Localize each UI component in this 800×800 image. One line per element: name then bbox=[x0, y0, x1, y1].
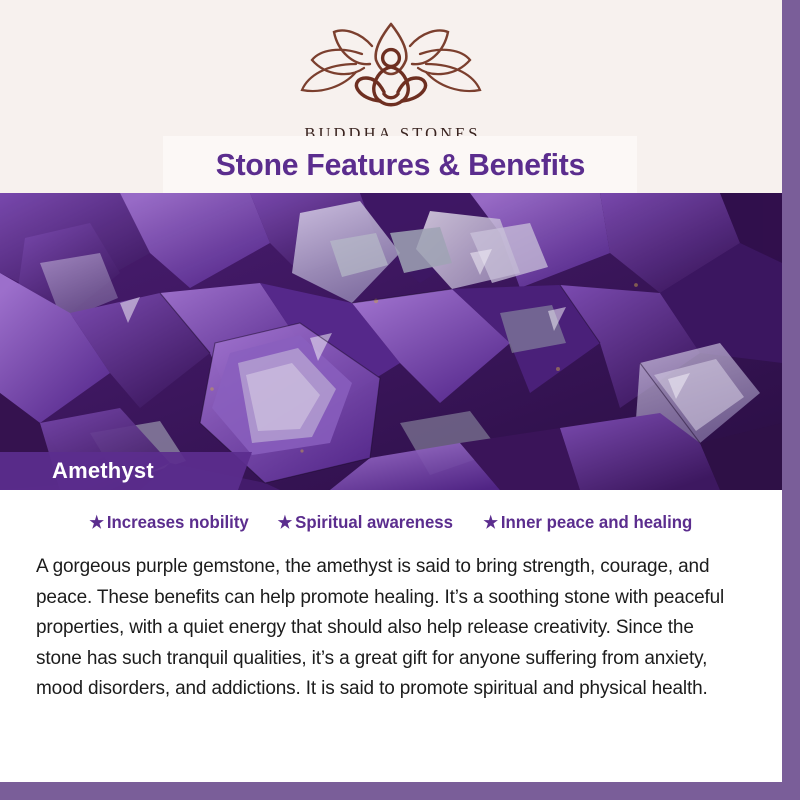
stone-description: A gorgeous purple gemstone, the amethyst… bbox=[36, 552, 741, 705]
feature-label: Spiritual awareness bbox=[295, 512, 453, 533]
infographic-page: BUDDHA STONES Stone Features & Benefits bbox=[0, 0, 800, 800]
star-icon: ★ bbox=[483, 514, 498, 531]
feature-list: ★ Increases nobility ★ Spiritual awarene… bbox=[0, 512, 782, 533]
lotus-meditation-figure-icon bbox=[296, 20, 486, 120]
content-card: BUDDHA STONES Stone Features & Benefits bbox=[0, 0, 782, 782]
feature-label: Inner peace and healing bbox=[500, 512, 691, 533]
title-banner: Stone Features & Benefits bbox=[163, 136, 637, 193]
brand-logo: BUDDHA STONES bbox=[0, 20, 782, 144]
amethyst-crystal-cluster-photo bbox=[0, 193, 782, 490]
stone-name-ribbon: Amethyst bbox=[0, 452, 252, 490]
feature-item-2: ★ Inner peace and healing bbox=[483, 512, 692, 533]
feature-label: Increases nobility bbox=[107, 512, 249, 533]
page-title: Stone Features & Benefits bbox=[215, 147, 584, 183]
stone-info-panel: ★ Increases nobility ★ Spiritual awarene… bbox=[0, 490, 782, 782]
stone-name-label: Amethyst bbox=[52, 452, 154, 490]
star-icon: ★ bbox=[89, 514, 104, 531]
star-icon: ★ bbox=[278, 514, 293, 531]
feature-item-0: ★ Increases nobility bbox=[89, 512, 248, 533]
feature-item-1: ★ Spiritual awareness bbox=[278, 512, 453, 533]
crystal-texture bbox=[0, 193, 782, 490]
